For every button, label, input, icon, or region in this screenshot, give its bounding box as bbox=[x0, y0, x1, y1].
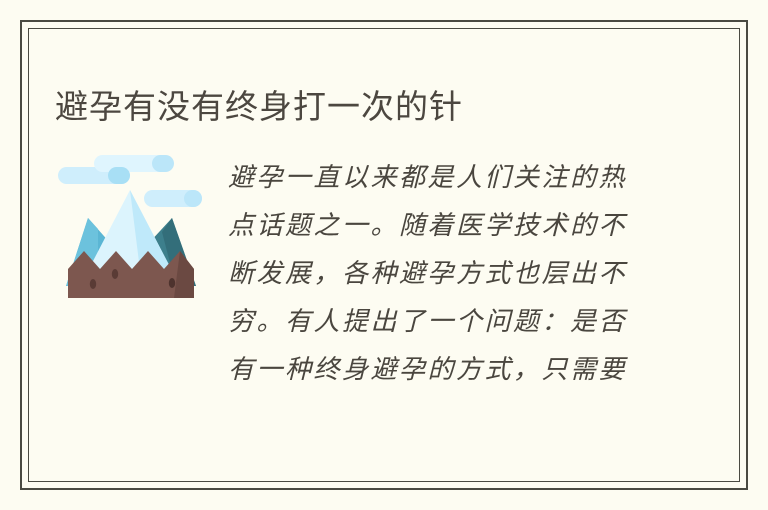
body-line: 有一种终身避孕的方式，只需要 bbox=[228, 346, 658, 394]
mountain-illustration bbox=[56, 146, 204, 298]
rock-dot-icon bbox=[90, 279, 96, 289]
cloud-bar-top-cap-icon bbox=[152, 155, 174, 172]
rock-dot-icon bbox=[169, 278, 175, 288]
rock-dot-icon bbox=[112, 269, 118, 279]
cloud-bar-left-cap-icon bbox=[108, 167, 130, 184]
body-line: 断发展，各种避孕方式也层出不 bbox=[228, 250, 658, 298]
article-card: 避孕有没有终身打一次的针 bbox=[20, 20, 748, 490]
mountain-illustration-svg bbox=[56, 146, 204, 298]
body-line: 点话题之一。随着医学技术的不 bbox=[228, 202, 658, 250]
cloud-bar-right-cap-icon bbox=[184, 190, 202, 207]
body-line: 穷。有人提出了一个问题：是否 bbox=[228, 298, 658, 346]
body-line: 避孕一直以来都是人们关注的热 bbox=[228, 154, 658, 202]
article-body: 避孕一直以来都是人们关注的热 点话题之一。随着医学技术的不 断发展，各种避孕方式… bbox=[228, 154, 658, 394]
page-title: 避孕有没有终身打一次的针 bbox=[55, 86, 695, 128]
